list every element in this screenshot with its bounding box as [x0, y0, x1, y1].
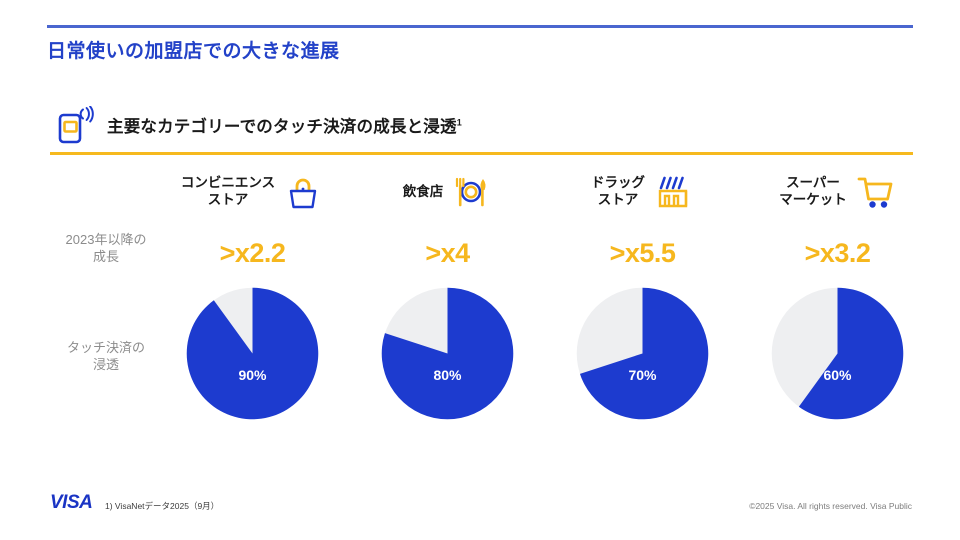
pie-cell-convenience-store: 90%: [155, 285, 350, 425]
pie-cell-supermarket: 60%: [740, 285, 935, 425]
growth-value: >x4: [425, 238, 469, 269]
pie-svg: [574, 285, 711, 422]
category-cell-drugstore: ドラッグ ストア: [545, 166, 740, 218]
plate-cutlery-icon: [450, 173, 492, 211]
pie-svg: [379, 285, 516, 422]
shopping-cart-icon: [854, 173, 896, 211]
category-cell-restaurants: 飲食店: [350, 166, 545, 218]
page-title: 日常使いの加盟店での大きな進展: [47, 36, 340, 63]
growth-cell-drugstore: >x5.5: [545, 228, 740, 278]
growth-value: >x5.5: [610, 238, 676, 269]
pie-svg: [184, 285, 321, 422]
growth-value: >x2.2: [220, 238, 286, 269]
top-divider-rule: [47, 25, 913, 28]
pie-value-label: 70%: [574, 367, 711, 383]
copyright-text: ©2025 Visa. All rights reserved. Visa Pu…: [749, 501, 912, 511]
pie-chart: 70%: [574, 285, 711, 422]
slide-canvas: 日常使いの加盟店での大きな進展 主要なカテゴリーでのタッチ決済の成長と浸透1 コ…: [0, 0, 960, 540]
pie-chart: 90%: [184, 285, 321, 422]
footnote-text: 1) VisaNetデータ2025（9月）: [105, 500, 219, 512]
row-label-penetration: タッチ決済の 浸透: [58, 340, 154, 374]
category-cell-convenience-store: コンビニエンス ストア: [155, 166, 350, 218]
growth-cell-convenience-store: >x2.2: [155, 228, 350, 278]
category-label: スーパー マーケット: [779, 175, 847, 209]
pie-svg: [769, 285, 906, 422]
pie-value-label: 80%: [379, 367, 516, 383]
pie-cell-drugstore: 70%: [545, 285, 740, 425]
category-label: ドラッグ ストア: [591, 175, 645, 209]
pie-chart: 60%: [769, 285, 906, 422]
growth-cell-supermarket: >x3.2: [740, 228, 935, 278]
growth-cell-restaurants: >x4: [350, 228, 545, 278]
category-label: 飲食店: [403, 184, 444, 201]
category-label: コンビニエンス ストア: [181, 175, 275, 209]
pie-filled-slice: [187, 288, 319, 420]
visa-logo: VISA: [50, 492, 92, 514]
growth-values-row: >x2.2 >x4 >x5.5 >x3.2: [155, 228, 935, 278]
contactless-phone-icon: [57, 106, 97, 144]
category-header-row: コンビニエンス ストア 飲食店: [155, 166, 935, 218]
pie-chart: 80%: [379, 285, 516, 422]
shopping-bag-icon: [282, 173, 324, 211]
category-cell-supermarket: スーパー マーケット: [740, 166, 935, 218]
subtitle-footnote-marker: 1: [457, 118, 462, 128]
storefront-icon: [652, 173, 694, 211]
subtitle-row: 主要なカテゴリーでのタッチ決済の成長と浸透1: [57, 106, 462, 144]
subtitle-main: 主要なカテゴリーでのタッチ決済の成長と浸透: [107, 118, 457, 136]
subtitle-text: 主要なカテゴリーでのタッチ決済の成長と浸透1: [107, 113, 462, 137]
penetration-pies-row: 90% 80% 70%: [155, 285, 935, 425]
row-label-growth: 2023年以降の 成長: [58, 232, 154, 266]
pie-cell-restaurants: 80%: [350, 285, 545, 425]
gold-divider-rule: [50, 152, 913, 155]
growth-value: >x3.2: [805, 238, 871, 269]
pie-value-label: 90%: [184, 367, 321, 383]
pie-value-label: 60%: [769, 367, 906, 383]
